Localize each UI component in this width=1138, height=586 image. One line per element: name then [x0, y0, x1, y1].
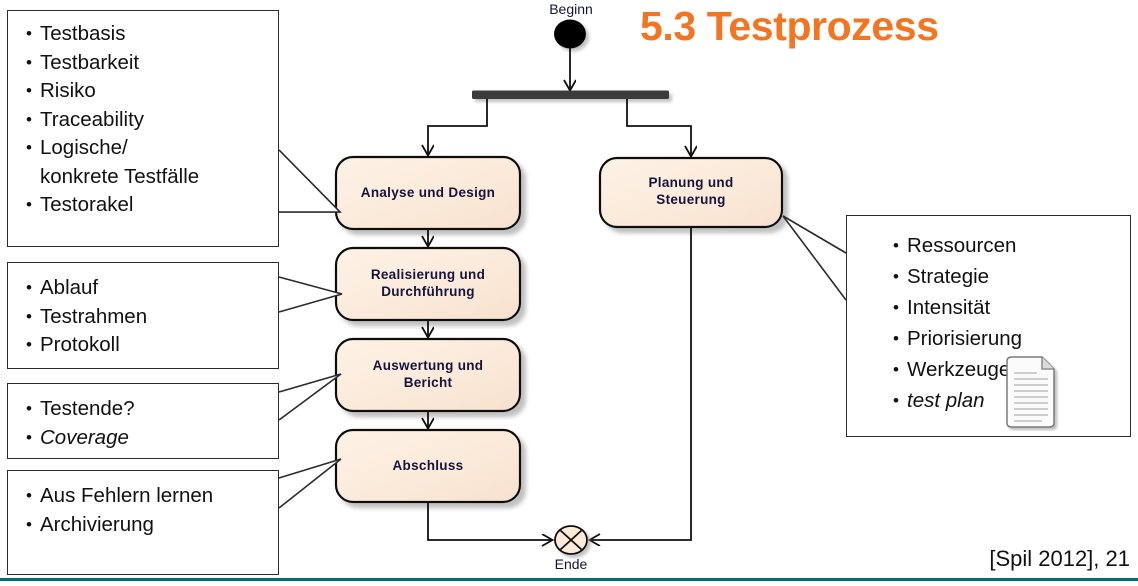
list-item: •Ablauf — [18, 274, 278, 303]
bullet-icon: • — [18, 49, 40, 78]
note-list: •Testende? •Coverage — [18, 395, 278, 452]
end-node — [555, 526, 587, 554]
page-title: 5.3 Testprozess — [640, 3, 939, 50]
note-list: •Aus Fehlern lernen •Archivierung — [18, 482, 278, 539]
slide-canvas: Analyse und Design Realisierung und Durc… — [0, 0, 1138, 586]
bullet-icon: • — [18, 274, 40, 303]
bullet-icon: • — [18, 482, 40, 511]
bullet-icon: • — [18, 77, 40, 106]
note-aus-fehlern-lernen: •Aus Fehlern lernen •Archivierung — [7, 470, 279, 575]
activity-analyse-und-design[interactable] — [336, 157, 520, 229]
bullet-icon: • — [885, 323, 907, 354]
activity-planung-und-steuerung[interactable] — [600, 158, 782, 227]
bullet-icon: • — [885, 292, 907, 323]
flow-abschluss-ende — [428, 502, 552, 540]
list-item: •Testorakel — [18, 191, 278, 220]
note-testende: •Testende? •Coverage — [7, 383, 279, 459]
list-item: •Strategie — [885, 261, 1130, 292]
callout-tail-right-1 — [783, 216, 846, 300]
list-item: •Coverage — [18, 424, 278, 453]
bullet-icon: • — [885, 385, 907, 416]
note-list: •Ablauf •Testrahmen •Protokoll — [18, 274, 278, 360]
list-item: •Aus Fehlern lernen — [18, 482, 278, 511]
callout-tail-left-1 — [279, 150, 340, 212]
note-ressourcen: •Ressourcen •Strategie •Intensität •Prio… — [846, 215, 1131, 437]
list-item: •Protokoll — [18, 331, 278, 360]
flow-fork-planung — [627, 99, 691, 156]
list-item: •Testrahmen — [18, 303, 278, 332]
callout-tail-left-2 — [279, 277, 342, 312]
list-item: •Logische/ — [18, 134, 278, 163]
bullet-icon: • — [18, 191, 40, 220]
note-ablauf: •Ablauf •Testrahmen •Protokoll — [7, 262, 279, 369]
flow-fork-analyse — [428, 99, 487, 155]
list-item-continuation: •konkrete Testfälle — [18, 163, 278, 192]
note-testbasis: •Testbasis •Testbarkeit •Risiko •Traceab… — [7, 10, 279, 247]
bullet-icon: • — [885, 230, 907, 261]
bullet-icon: • — [18, 106, 40, 135]
activity-auswertung-und-bericht[interactable] — [336, 339, 520, 411]
footer-rule — [0, 578, 1138, 581]
bullet-icon: • — [885, 261, 907, 292]
bullet-icon: • — [18, 134, 40, 163]
list-item: •Testende? — [18, 395, 278, 424]
bullet-icon: • — [18, 511, 40, 540]
fork-bar — [472, 91, 669, 100]
bullet-icon: • — [885, 354, 907, 385]
list-item: •Risiko — [18, 77, 278, 106]
end-node-label: Ende — [540, 556, 602, 572]
list-item: •Archivierung — [18, 511, 278, 540]
callout-tail-left-3 — [279, 374, 341, 420]
document-icon — [1004, 355, 1060, 431]
activity-realisierung-und-durchfuehrung[interactable] — [336, 248, 520, 320]
bullet-icon: • — [18, 424, 40, 453]
bullet-icon: • — [18, 303, 40, 332]
start-node-label: Beginn — [540, 1, 602, 17]
note-list: •Testbasis •Testbarkeit •Risiko •Traceab… — [18, 20, 278, 220]
start-node — [554, 20, 586, 49]
callout-tail-left-4 — [279, 459, 341, 508]
footer-reference: [Spil 2012], 21 — [989, 546, 1130, 572]
activity-abschluss[interactable] — [336, 430, 520, 502]
list-item: •Testbasis — [18, 20, 278, 49]
list-item: •Intensität — [885, 292, 1130, 323]
list-item: •Traceability — [18, 106, 278, 135]
bullet-icon: • — [18, 395, 40, 424]
list-item: •Priorisierung — [885, 323, 1130, 354]
list-item: •Testbarkeit — [18, 49, 278, 78]
bullet-icon: • — [18, 20, 40, 49]
bullet-icon: • — [18, 331, 40, 360]
flow-planung-ende — [590, 227, 691, 540]
list-item: •Ressourcen — [885, 230, 1130, 261]
